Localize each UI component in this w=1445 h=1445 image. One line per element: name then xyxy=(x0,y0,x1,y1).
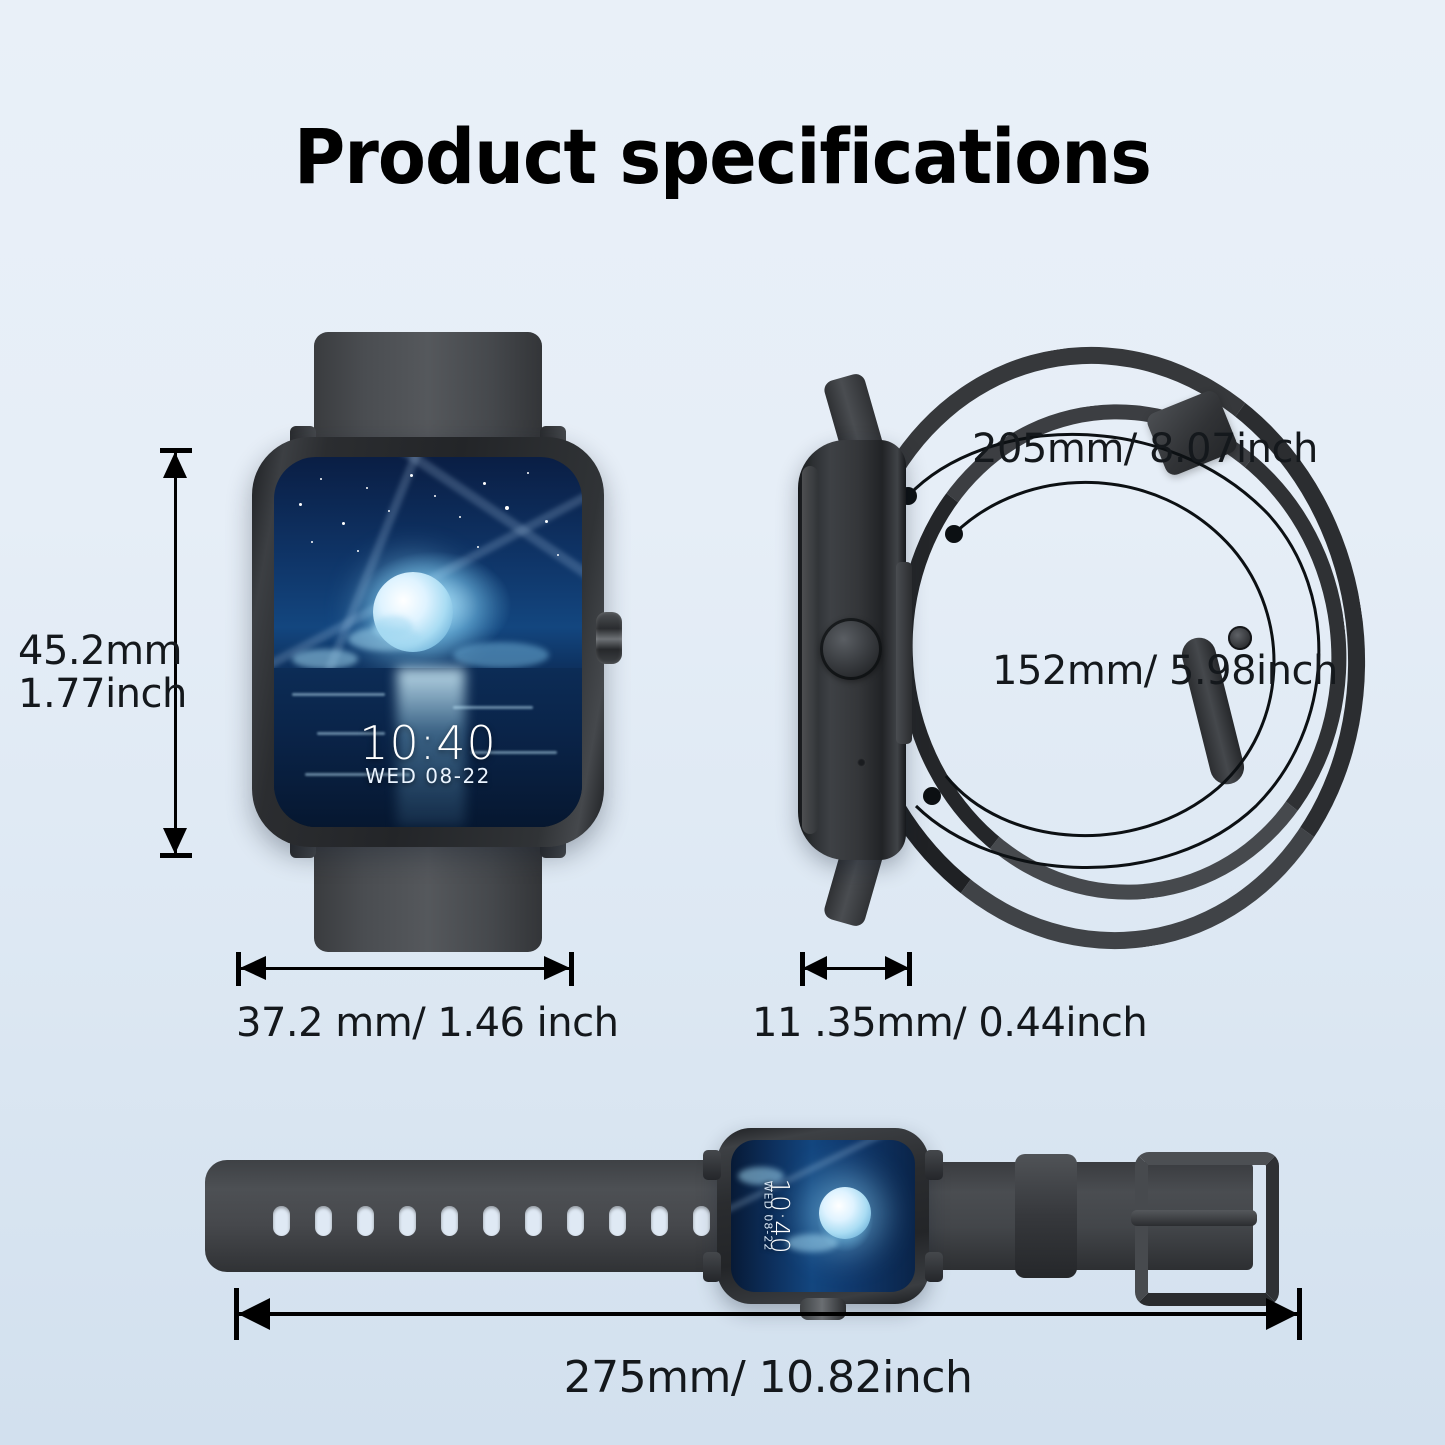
microphone-hole-icon xyxy=(857,758,866,767)
side-case-shelf xyxy=(896,562,912,744)
flat-watch-screen: 10:40 WED 08-22 xyxy=(731,1140,915,1292)
height-label-mm: 45.2mm xyxy=(18,630,187,673)
crown-button[interactable] xyxy=(596,612,622,664)
inner-arc-endpoint xyxy=(945,525,963,543)
cloud-3 xyxy=(453,642,549,668)
side-crown-button[interactable] xyxy=(820,618,882,680)
total-length-dimension-arrow xyxy=(234,1288,1302,1340)
watch-screen: 10:40 WED 08-22 xyxy=(274,457,582,827)
height-label-inch: 1.77inch xyxy=(18,673,187,716)
product-spec-infographic: Product specifications xyxy=(0,0,1445,1445)
outer-circumference-label: 205mm/ 8.07inch xyxy=(972,426,1318,472)
inner-arc-endpoint-2 xyxy=(923,787,941,805)
flat-lug-br xyxy=(925,1252,943,1282)
buckle-icon xyxy=(1135,1152,1279,1306)
flat-strap-keeper xyxy=(1015,1154,1077,1278)
strap-hole xyxy=(441,1206,458,1236)
width-label: 37.2 mm/ 1.46 inch xyxy=(236,1000,574,1046)
thickness-dimension-arrow xyxy=(800,952,912,986)
total-length-label: 275mm/ 10.82inch xyxy=(234,1352,1302,1403)
watch-date: WED 08-22 xyxy=(365,764,491,788)
cloud-2 xyxy=(373,616,413,638)
strap-hole xyxy=(693,1206,710,1236)
inner-circumference-label: 152mm/ 5.98inch xyxy=(992,648,1338,694)
page-title: Product specifications xyxy=(58,112,1387,201)
front-watch-view: 10:40 WED 08-22 xyxy=(238,332,618,952)
strap-hole xyxy=(273,1206,290,1236)
flat-moon-icon xyxy=(819,1187,871,1239)
width-dimension-arrow xyxy=(236,952,574,986)
strap-hole xyxy=(483,1206,500,1236)
side-case xyxy=(798,440,906,860)
watch-case: 10:40 WED 08-22 xyxy=(252,437,604,847)
flat-lug-tr xyxy=(925,1150,943,1180)
buckle-bar xyxy=(1131,1210,1257,1226)
flat-strap-left xyxy=(205,1160,745,1272)
strap-hole xyxy=(651,1206,668,1236)
height-label: 45.2mm 1.77inch xyxy=(18,630,187,716)
strap-hole xyxy=(315,1206,332,1236)
strap-hole xyxy=(567,1206,584,1236)
flat-strap-view: 10:40 WED 08-22 xyxy=(205,1128,1315,1308)
flat-lug-tl xyxy=(703,1150,721,1180)
flat-watch-date: WED 08-22 xyxy=(761,1181,774,1252)
thickness-label: 11 .35mm/ 0.44inch xyxy=(752,1000,1082,1046)
strap-hole xyxy=(399,1206,416,1236)
flat-lug-bl xyxy=(703,1252,721,1282)
strap-hole xyxy=(357,1206,374,1236)
strap-hole xyxy=(525,1206,542,1236)
strap-hole xyxy=(609,1206,626,1236)
flat-watch-case: 10:40 WED 08-22 xyxy=(717,1128,929,1304)
watch-time: 10:40 xyxy=(359,716,497,770)
side-profile-view xyxy=(792,440,922,860)
